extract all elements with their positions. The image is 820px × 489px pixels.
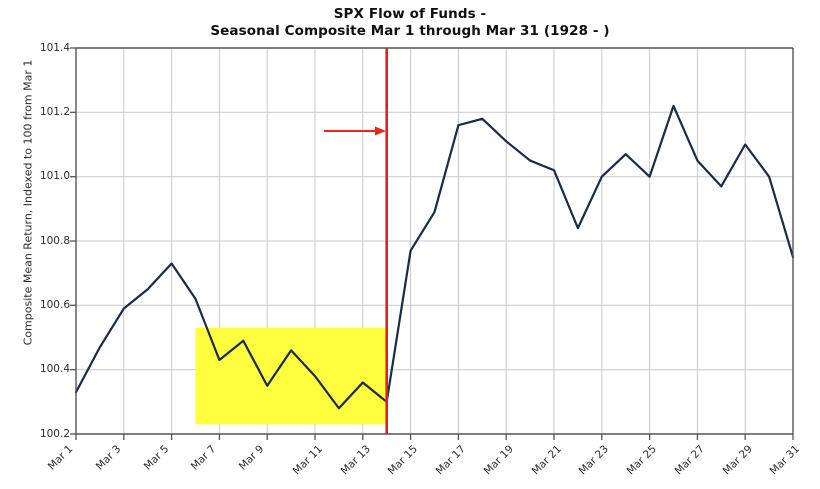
x-axis-ticks xyxy=(76,434,793,440)
yellow-highlight-box xyxy=(196,328,387,425)
y-axis-ticks xyxy=(70,48,76,434)
plot-canvas xyxy=(0,0,820,489)
chart-figure: SPX Flow of Funds - Seasonal Composite M… xyxy=(0,0,820,489)
